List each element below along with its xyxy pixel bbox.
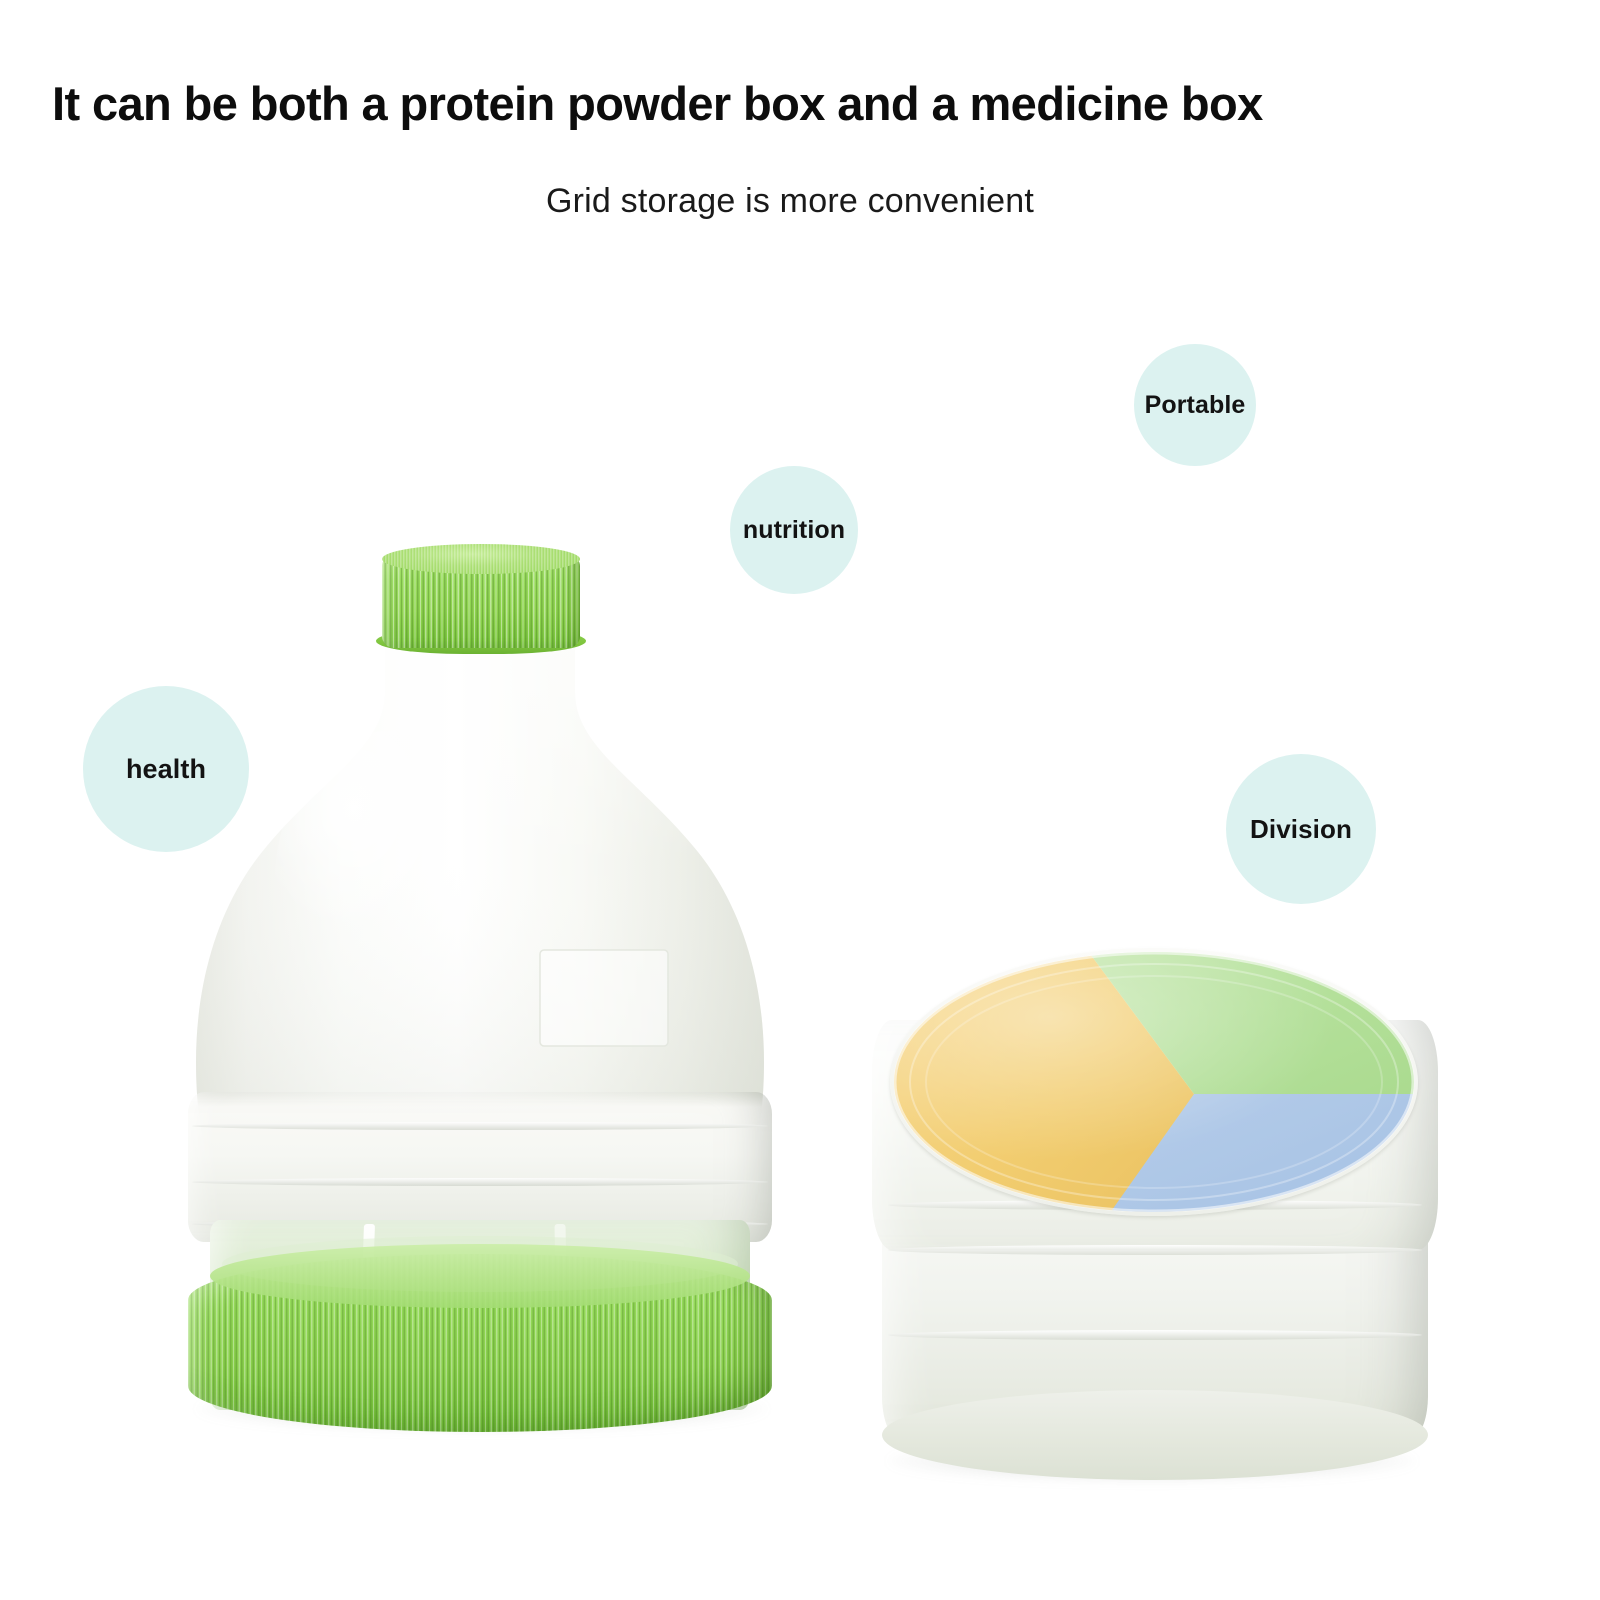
bottle-cap-top bbox=[382, 544, 580, 574]
pillbox-base-bottom bbox=[882, 1390, 1428, 1480]
badge-division-label: Division bbox=[1250, 814, 1352, 845]
badge-portable-label: Portable bbox=[1145, 391, 1246, 420]
round-divided-pill-box bbox=[860, 900, 1460, 1510]
collar-ridge bbox=[192, 1178, 768, 1186]
embossed-mold-mark bbox=[540, 950, 668, 1046]
page-title: It can be both a protein powder box and … bbox=[52, 78, 1552, 130]
pillbox-ridge bbox=[888, 1330, 1422, 1340]
badge-portable: Portable bbox=[1134, 344, 1256, 466]
pillbox-ridge bbox=[888, 1245, 1422, 1255]
pillbox-lid bbox=[894, 952, 1414, 1212]
badge-division: Division bbox=[1226, 754, 1376, 904]
collar-ridge bbox=[192, 1122, 768, 1130]
page-subtitle: Grid storage is more convenient bbox=[0, 182, 1580, 221]
base-ring-inner-lip bbox=[210, 1244, 750, 1308]
product-marketing-banner: It can be both a protein powder box and … bbox=[0, 0, 1600, 1600]
protein-powder-bottle bbox=[170, 530, 790, 1460]
